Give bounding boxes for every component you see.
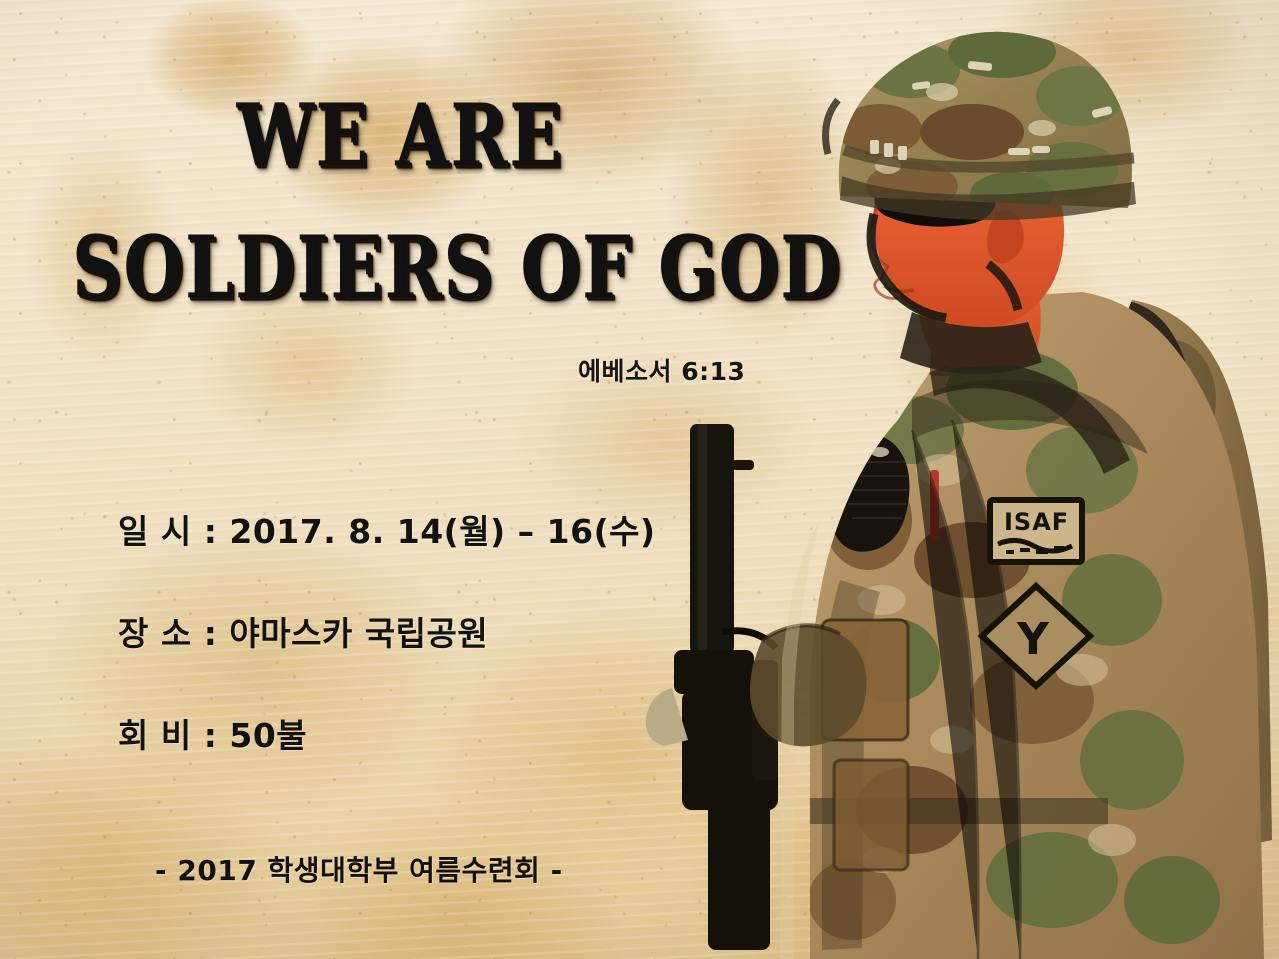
poster-footer: - 2017 학생대학부 여름수련회 - bbox=[155, 849, 563, 889]
poster-slide: ISAF Y WE ARE SOLDIERS OF GOD 에베소서 6:13 … bbox=[0, 0, 1279, 959]
info-line-location: 장 소 : 야마스카 국립공원 bbox=[118, 607, 656, 655]
info-line-date: 일 시 : 2017. 8. 14(월) – 16(수) bbox=[118, 505, 656, 553]
info-line-fee: 회 비 : 50불 bbox=[118, 709, 656, 757]
poster-title-line-2: SOLDIERS OF GOD bbox=[72, 225, 728, 311]
patch-isaf: ISAF bbox=[990, 500, 1082, 562]
helmet bbox=[822, 10, 1152, 230]
gloved-hand-arm bbox=[750, 625, 867, 746]
svg-text:ISAF: ISAF bbox=[1004, 508, 1069, 536]
scripture-reference: 에베소서 6:13 bbox=[578, 352, 745, 388]
event-info-block: 일 시 : 2017. 8. 14(월) – 16(수) 장 소 : 야마스카 … bbox=[118, 505, 656, 757]
svg-text:Y: Y bbox=[1016, 614, 1050, 665]
poster-title-line-1: WE ARE bbox=[72, 93, 728, 179]
